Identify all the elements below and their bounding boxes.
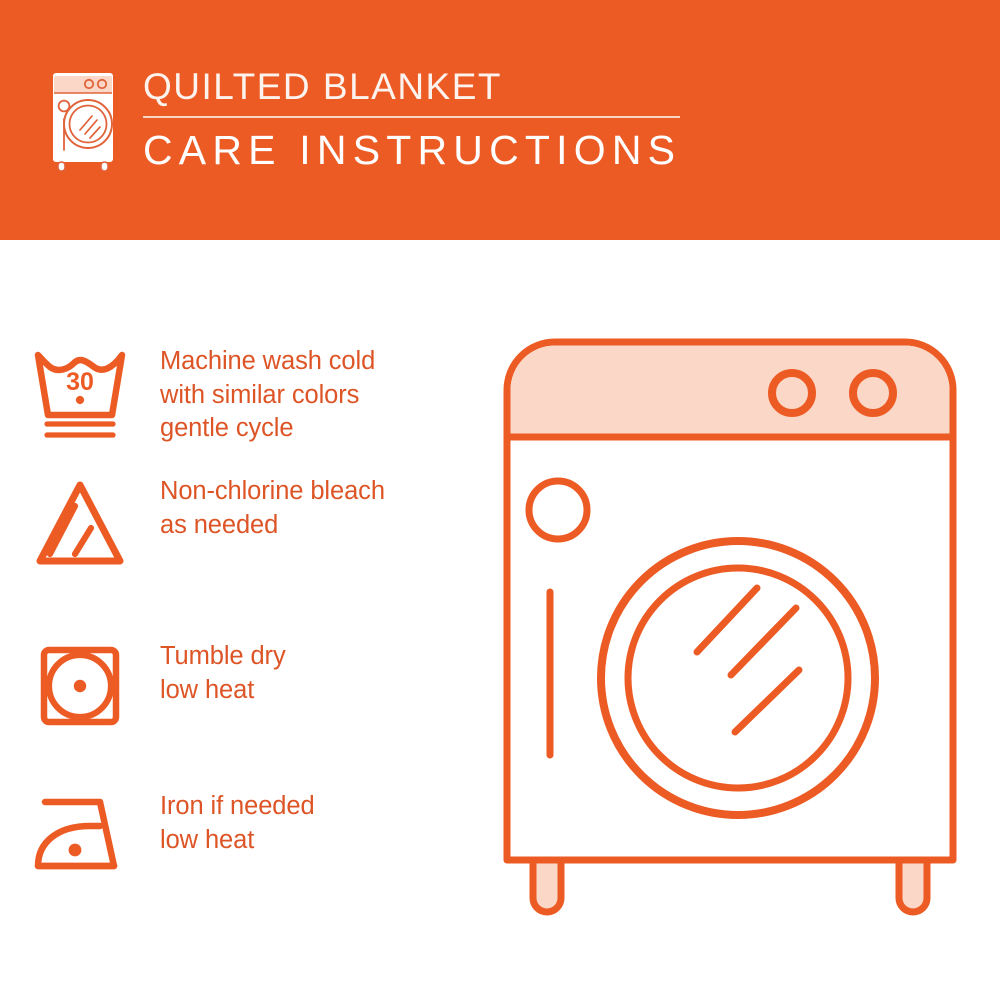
care-label-line: as needed — [160, 509, 385, 543]
wash-temperature-value: 30 — [66, 368, 94, 396]
care-item-machine-wash: 30 Machine wash cold with similar colors… — [0, 343, 500, 446]
iron-low-heat-icon — [0, 788, 160, 888]
wash-tub-30-gentle-icon: 30 — [0, 343, 160, 443]
leg-left — [533, 860, 561, 912]
care-label-line: Non-chlorine bleach — [160, 475, 385, 509]
page-title-product: QUILTED BLANKET — [143, 68, 763, 105]
care-instruction-list: 30 Machine wash cold with similar colors… — [0, 240, 500, 1000]
care-item-label: Non-chlorine bleach as needed — [160, 473, 385, 542]
title-divider — [143, 116, 680, 118]
care-label-line: low heat — [160, 824, 315, 858]
care-item-label: Iron if needed low heat — [160, 788, 315, 857]
care-label-line: Iron if needed — [160, 790, 315, 824]
leg-right — [899, 860, 927, 912]
care-item-iron: Iron if needed low heat — [0, 788, 500, 888]
care-item-tumble-dry: Tumble dry low heat — [0, 638, 500, 738]
header-banner: QUILTED BLANKET CARE INSTRUCTIONS — [0, 0, 1000, 240]
control-panel — [511, 346, 950, 438]
front-load-washing-machine-illustration — [495, 330, 965, 930]
care-item-label: Tumble dry low heat — [160, 638, 286, 707]
non-chlorine-bleach-triangle-icon — [0, 473, 160, 573]
care-label-line: with similar colors — [160, 379, 375, 413]
care-item-label: Machine wash cold with similar colors ge… — [160, 343, 375, 446]
tumble-dry-low-heat-icon — [0, 638, 160, 738]
care-label-line: low heat — [160, 674, 286, 708]
care-label-line: gentle cycle — [160, 412, 375, 446]
care-item-bleach: Non-chlorine bleach as needed — [0, 473, 500, 573]
care-instructions-infographic: QUILTED BLANKET CARE INSTRUCTIONS 30 — [0, 0, 1000, 1000]
header-title-block: QUILTED BLANKET CARE INSTRUCTIONS — [143, 68, 763, 171]
care-label-line: Tumble dry — [160, 640, 286, 674]
care-label-line: Machine wash cold — [160, 345, 375, 379]
page-title-main: CARE INSTRUCTIONS — [143, 130, 763, 171]
washing-machine-icon — [44, 66, 122, 174]
